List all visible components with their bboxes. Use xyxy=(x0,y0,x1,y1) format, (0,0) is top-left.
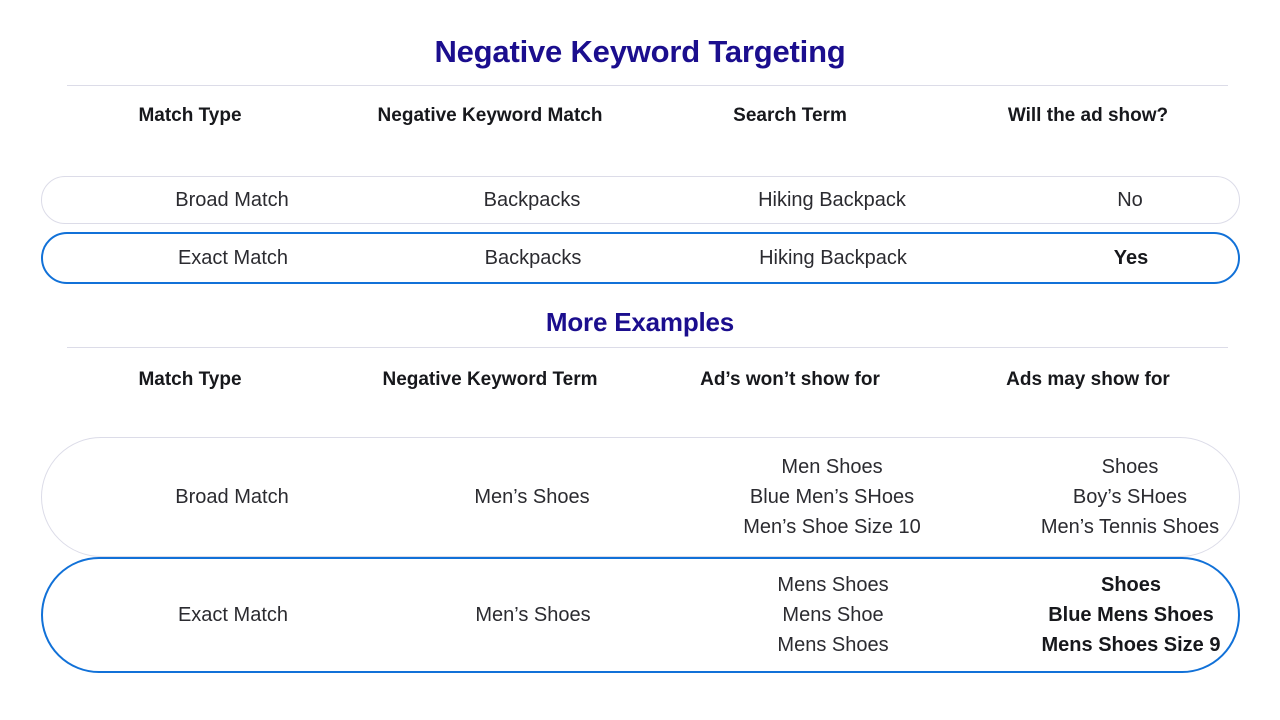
table1-row1-search-term: Hiking Backpack xyxy=(682,185,982,215)
table2-header-match-type: Match Type xyxy=(60,367,320,392)
table-row[interactable]: Exact Match Backpacks Hiking Backpack Ye… xyxy=(41,232,1240,284)
table2-row1-negative-keyword-term: Men’s Shoes xyxy=(392,482,672,512)
table1-row2-match-type: Exact Match xyxy=(93,243,373,273)
divider-top xyxy=(67,85,1228,86)
table2-header-ads-wont-show-for: Ad’s won’t show for xyxy=(650,367,930,392)
table2-row1-ads-may-show-for: Shoes Boy’s SHoes Men’s Tennis Shoes xyxy=(980,452,1280,542)
table2-row2-ads-may-show-for: Shoes Blue Mens Shoes Mens Shoes Size 9 xyxy=(981,570,1280,660)
table2-row1-match-type: Broad Match xyxy=(92,482,372,512)
table-row[interactable]: Broad Match Men’s Shoes Men Shoes Blue M… xyxy=(41,437,1240,557)
table2-header-row: Match Type Negative Keyword Term Ad’s wo… xyxy=(0,367,1280,427)
table1-header-match-type: Match Type xyxy=(60,103,320,128)
page-title: Negative Keyword Targeting xyxy=(0,34,1280,70)
table1-row1-negative-keyword: Backpacks xyxy=(392,185,672,215)
divider-middle xyxy=(67,347,1228,348)
table2-row1-ads-wont-show-for: Men Shoes Blue Men’s SHoes Men’s Shoe Si… xyxy=(682,452,982,542)
table1-row1-will-ad-show: No xyxy=(980,185,1280,215)
table2-row2-match-type: Exact Match xyxy=(93,600,373,630)
table2-header-ads-may-show-for: Ads may show for xyxy=(948,367,1228,392)
table1-row2-will-ad-show: Yes xyxy=(981,243,1280,273)
table1-row2-negative-keyword: Backpacks xyxy=(393,243,673,273)
table2-header-negative-keyword-term: Negative Keyword Term xyxy=(355,367,625,392)
table2-row2-ads-wont-show-for: Mens Shoes Mens Shoe Mens Shoes xyxy=(683,570,983,660)
table1-header-search-term: Search Term xyxy=(650,103,930,128)
table2-row2-negative-keyword-term: Men’s Shoes xyxy=(393,600,673,630)
table-row[interactable]: Exact Match Men’s Shoes Mens Shoes Mens … xyxy=(41,557,1240,673)
section-title-more-examples: More Examples xyxy=(0,307,1280,338)
table1-row1-match-type: Broad Match xyxy=(92,185,372,215)
table1-header-row: Match Type Negative Keyword Match Search… xyxy=(0,103,1280,163)
table1-row2-search-term: Hiking Backpack xyxy=(683,243,983,273)
table1-header-negative-keyword-match: Negative Keyword Match xyxy=(355,103,625,128)
slide-canvas: Negative Keyword Targeting Match Type Ne… xyxy=(0,0,1280,720)
table1-header-will-ad-show: Will the ad show? xyxy=(948,103,1228,128)
table-row[interactable]: Broad Match Backpacks Hiking Backpack No xyxy=(41,176,1240,224)
